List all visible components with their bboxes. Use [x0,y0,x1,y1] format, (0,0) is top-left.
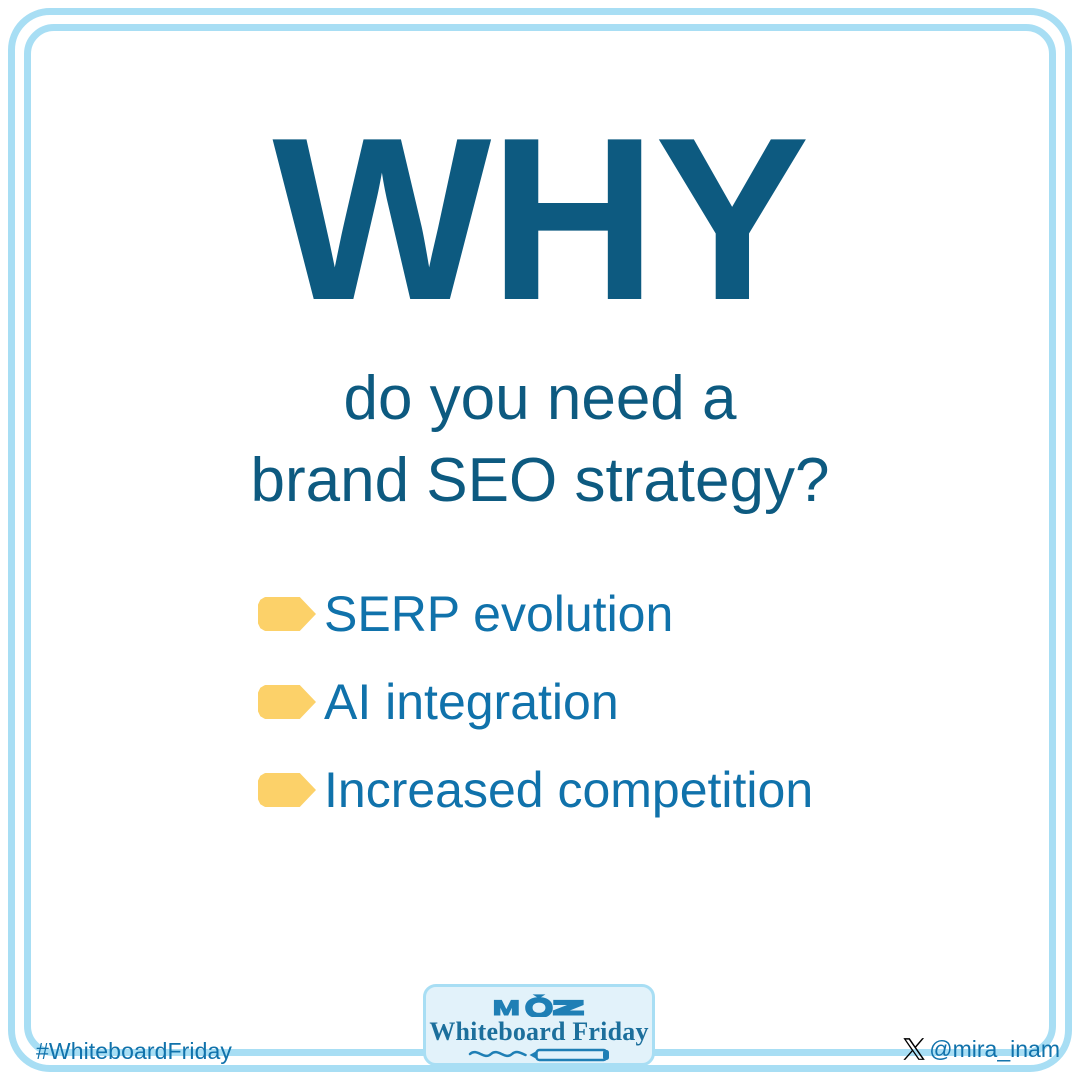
arrow-tag-icon [258,597,316,631]
list-item-label: SERP evolution [324,586,673,642]
bullet-list: SERP evolution AI integration Increased … [258,570,1018,834]
x-twitter-icon [901,1036,927,1062]
list-item: SERP evolution [258,570,1018,658]
squiggle-marker-pen-icon [467,1047,612,1063]
subtitle-line-2: brand SEO strategy? [0,440,1080,522]
page-title: WHY [0,104,1080,336]
list-item: AI integration [258,658,1018,746]
list-item-label: Increased competition [324,762,813,818]
subtitle-line-1: do you need a [0,358,1080,440]
arrow-tag-icon [258,685,316,719]
list-item-label: AI integration [324,674,619,730]
social-handle: @mira_inam [901,1036,1060,1062]
slide-canvas: WHY do you need a brand SEO strategy? SE… [0,0,1080,1080]
moz-logo-icon [493,992,585,1017]
moz-whiteboard-friday-badge: Whiteboard Friday [423,984,655,1066]
badge-title: Whiteboard Friday [429,1018,648,1046]
page-subtitle: do you need a brand SEO strategy? [0,358,1080,522]
arrow-tag-icon [258,773,316,807]
list-item: Increased competition [258,746,1018,834]
hashtag-label: #WhiteboardFriday [36,1038,232,1064]
social-handle-label: @mira_inam [929,1036,1060,1062]
